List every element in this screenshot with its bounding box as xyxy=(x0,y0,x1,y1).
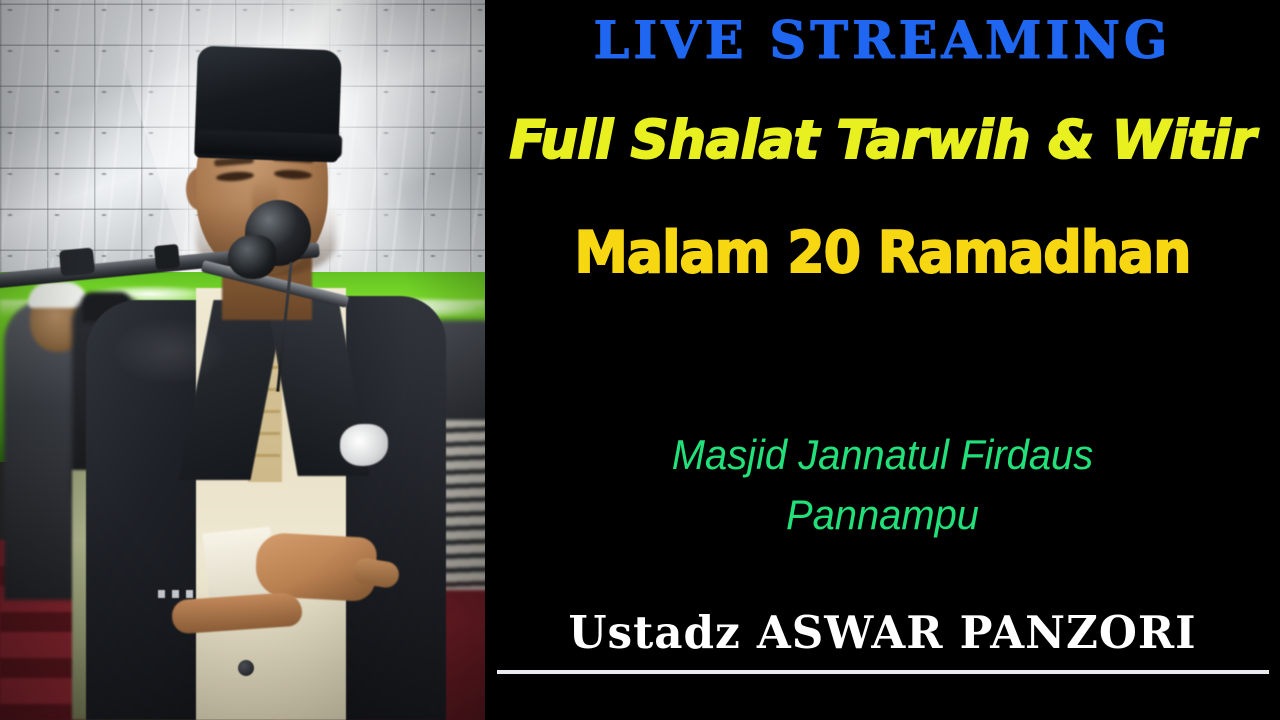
event-title: Full Shalat Tarwih & Witir xyxy=(485,112,1280,170)
venue-line-1: Masjid Jannatul Firdaus xyxy=(505,425,1260,485)
jacket-button xyxy=(238,660,254,676)
pocket-square xyxy=(340,424,388,466)
live-streaming-heading: LIVE STREAMING xyxy=(485,16,1280,67)
event-subtitle: Malam 20 Ramadhan xyxy=(509,222,1256,285)
venue-line-2: Pannampu xyxy=(505,485,1260,545)
peci-cap-rim xyxy=(196,129,343,158)
thumbnail-canvas: ✕ LIVE STREAMING Full Shalat Tarwih & Wi… xyxy=(0,0,1280,720)
mic-stand-clamp-2 xyxy=(154,244,180,270)
jacket-sheen xyxy=(110,316,230,386)
microphone-windscreen xyxy=(228,235,276,279)
speaker-name-underline xyxy=(497,670,1269,674)
venue-name: Masjid Jannatul Firdaus Pannampu xyxy=(505,425,1260,544)
text-panel: LIVE STREAMING Full Shalat Tarwih & Witi… xyxy=(485,0,1280,720)
speaker-photo: ✕ xyxy=(0,0,485,720)
speaker-name: Ustadz ASWAR PANZORI xyxy=(497,610,1268,655)
jacket-sleeve-buttons xyxy=(158,590,198,598)
mic-stand-bracket-icon: ✕ xyxy=(45,246,79,266)
